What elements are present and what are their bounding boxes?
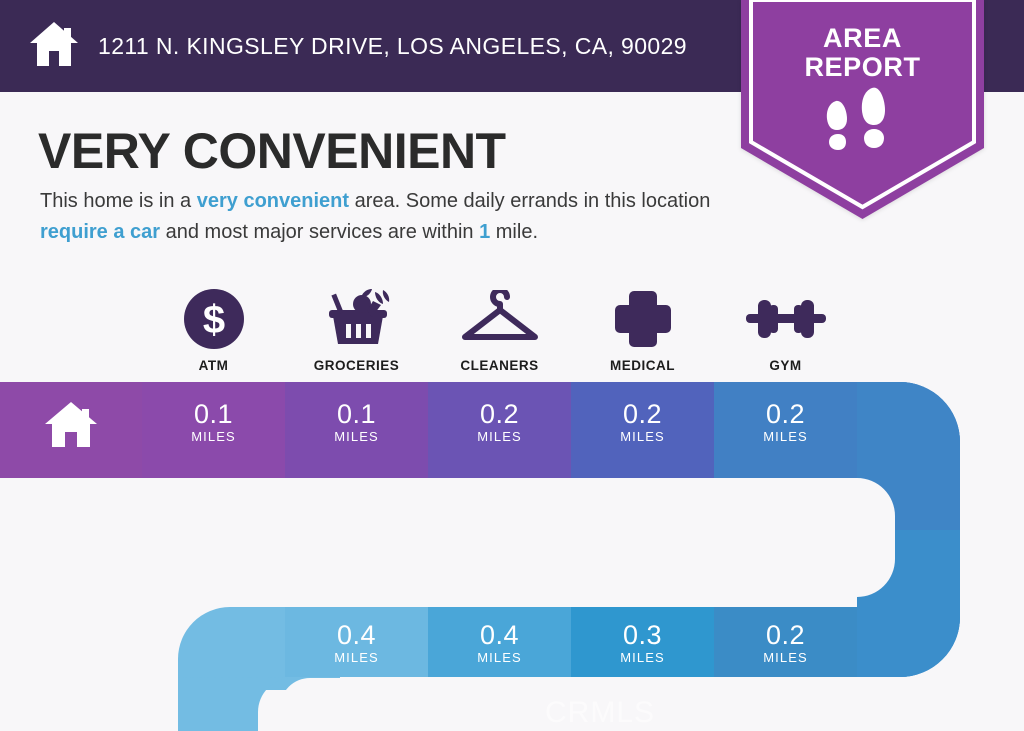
badge-title-line1: AREA (741, 24, 984, 53)
amenity-cleaners: CLEANERS (428, 275, 571, 373)
amenity-label: GROCERIES (314, 358, 400, 373)
area-report-badge: AREA REPORT (741, 0, 984, 219)
area-report-page: 1211 N. KINGSLEY DRIVE, LOS ANGELES, CA,… (0, 0, 1024, 731)
copy-highlight-car: require a car (40, 221, 160, 243)
dollar-circle-icon: $ (183, 288, 245, 350)
page-title: VERY CONVENIENT (38, 122, 506, 180)
svg-text:$: $ (202, 298, 224, 342)
badge-title-line2: REPORT (741, 53, 984, 82)
amenity-icon-row-1: $ ATM (142, 275, 857, 373)
copy-highlight-convenient: very convenient (197, 190, 349, 212)
copy-highlight-distance: 1 (479, 221, 490, 243)
clothes-hanger-icon (459, 288, 541, 350)
amenity-gym: GYM (714, 275, 857, 373)
distance-ribbon (0, 378, 1024, 731)
amenity-label: ATM (199, 358, 229, 373)
copy-part3: and most major services are within (160, 221, 479, 243)
amenity-label: CLEANERS (460, 358, 538, 373)
amenity-groceries: GROCERIES (285, 275, 428, 373)
header-content: 1211 N. KINGSLEY DRIVE, LOS ANGELES, CA,… (28, 20, 687, 73)
amenity-label: GYM (769, 358, 801, 373)
copy-part1: This home is in a (40, 190, 197, 212)
badge-title: AREA REPORT (741, 24, 984, 82)
grocery-basket-icon (321, 288, 393, 350)
amenity-medical: MEDICAL (571, 275, 714, 373)
amenity-atm: $ ATM (142, 275, 285, 373)
dumbbell-icon (744, 288, 828, 350)
distance-bar-row-2 (178, 598, 1020, 688)
copy-part2: area. Some daily errands in this locatio… (349, 190, 710, 212)
crmls-watermark: CRMLS (545, 696, 655, 730)
copy-part4: mile. (490, 221, 538, 243)
home-icon (28, 20, 80, 73)
description-text: This home is in a very convenient area. … (40, 186, 740, 248)
property-address: 1211 N. KINGSLEY DRIVE, LOS ANGELES, CA,… (98, 33, 687, 60)
amenity-label: MEDICAL (610, 358, 675, 373)
medical-cross-icon (613, 288, 673, 350)
